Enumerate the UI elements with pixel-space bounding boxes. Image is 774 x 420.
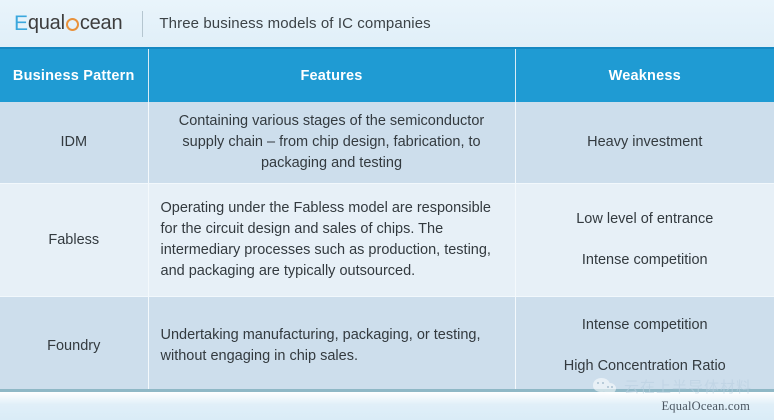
- cell-weakness: Low level of entrance Intense competitio…: [515, 184, 774, 297]
- wechat-bubble-small: [603, 383, 616, 394]
- cell-features: Operating under the Fabless model are re…: [148, 184, 515, 297]
- wechat-icon: [593, 378, 617, 395]
- weakness-line-1: Low level of entrance: [526, 209, 765, 230]
- site-credit: EqualOcean.com: [661, 399, 750, 414]
- weakness-line-1: Heavy investment: [526, 132, 765, 153]
- logo-text-qual: qual: [28, 12, 65, 35]
- cell-business-pattern: Fabless: [0, 184, 148, 297]
- table-row: Fabless Operating under the Fabless mode…: [0, 184, 774, 297]
- weakness-line-2: Intense competition: [526, 250, 765, 271]
- slide-canvas: Equalcean Three business models of IC co…: [0, 0, 774, 420]
- cell-business-pattern: IDM: [0, 102, 148, 184]
- cell-features: Containing various stages of the semicon…: [148, 102, 515, 184]
- column-header-business-pattern: Business Pattern: [0, 48, 148, 102]
- weakness-line-1: Intense competition: [526, 315, 765, 336]
- weakness-spacer: [526, 230, 765, 250]
- column-header-weakness: Weakness: [515, 48, 774, 102]
- business-models-table: Business Pattern Features Weakness IDM C…: [0, 47, 774, 396]
- table-header-row: Business Pattern Features Weakness: [0, 48, 774, 102]
- watermark-text: 云在上半导体材料: [624, 376, 752, 397]
- wechat-watermark: 云在上半导体材料: [593, 376, 752, 397]
- equalocean-logo: Equalcean: [14, 12, 122, 35]
- weakness-line-2: High Concentration Ratio: [526, 356, 765, 377]
- logo-text-cean: cean: [80, 12, 123, 35]
- weakness-spacer: [526, 336, 765, 356]
- header-vertical-divider: [142, 11, 143, 37]
- header-bar: Equalcean Three business models of IC co…: [0, 0, 774, 47]
- column-header-features: Features: [148, 48, 515, 102]
- cell-business-pattern: Foundry: [0, 297, 148, 396]
- logo-orange-circle-icon: [66, 18, 79, 31]
- table-row: IDM Containing various stages of the sem…: [0, 102, 774, 184]
- cell-features: Undertaking manufacturing, packaging, or…: [148, 297, 515, 396]
- logo-letter-e: E: [14, 13, 28, 34]
- page-title: Three business models of IC companies: [159, 15, 430, 32]
- cell-weakness: Heavy investment: [515, 102, 774, 184]
